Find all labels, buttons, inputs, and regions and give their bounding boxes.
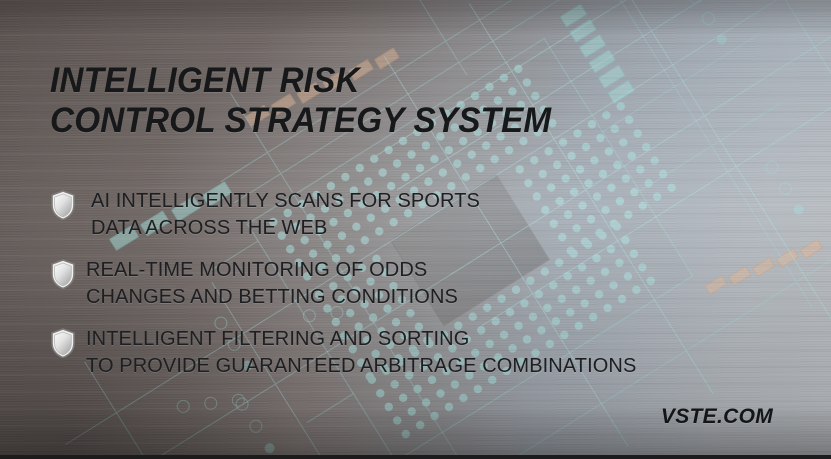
shield-icon xyxy=(50,259,76,289)
feature-item-3: INTELLIGENT FILTERING AND SORTING TO PRO… xyxy=(50,326,690,379)
feature-item-1: AI INTELLIGENTLY SCANS FOR SPORTS DATA A… xyxy=(50,188,690,241)
feature-item-3-label: INTELLIGENT FILTERING AND SORTING TO PRO… xyxy=(86,326,636,379)
shield-icon xyxy=(50,328,76,358)
promo-slide: INTELLIGENT RISK CONTROL STRATEGY SYSTEM xyxy=(0,0,831,459)
slide-content: INTELLIGENT RISK CONTROL STRATEGY SYSTEM xyxy=(0,0,831,459)
feature-item-1-label: AI INTELLIGENTLY SCANS FOR SPORTS DATA A… xyxy=(86,188,480,241)
feature-item-2: REAL-TIME MONITORING OF ODDS CHANGES AND… xyxy=(50,257,690,310)
brand-watermark: VSTE.COM xyxy=(661,405,773,429)
shield-icon xyxy=(50,190,76,220)
feature-item-2-label: REAL-TIME MONITORING OF ODDS CHANGES AND… xyxy=(86,257,458,310)
slide-title: INTELLIGENT RISK CONTROL STRATEGY SYSTEM xyxy=(50,61,551,141)
bottom-bar xyxy=(0,455,831,459)
feature-list: AI INTELLIGENTLY SCANS FOR SPORTS DATA A… xyxy=(50,188,690,380)
